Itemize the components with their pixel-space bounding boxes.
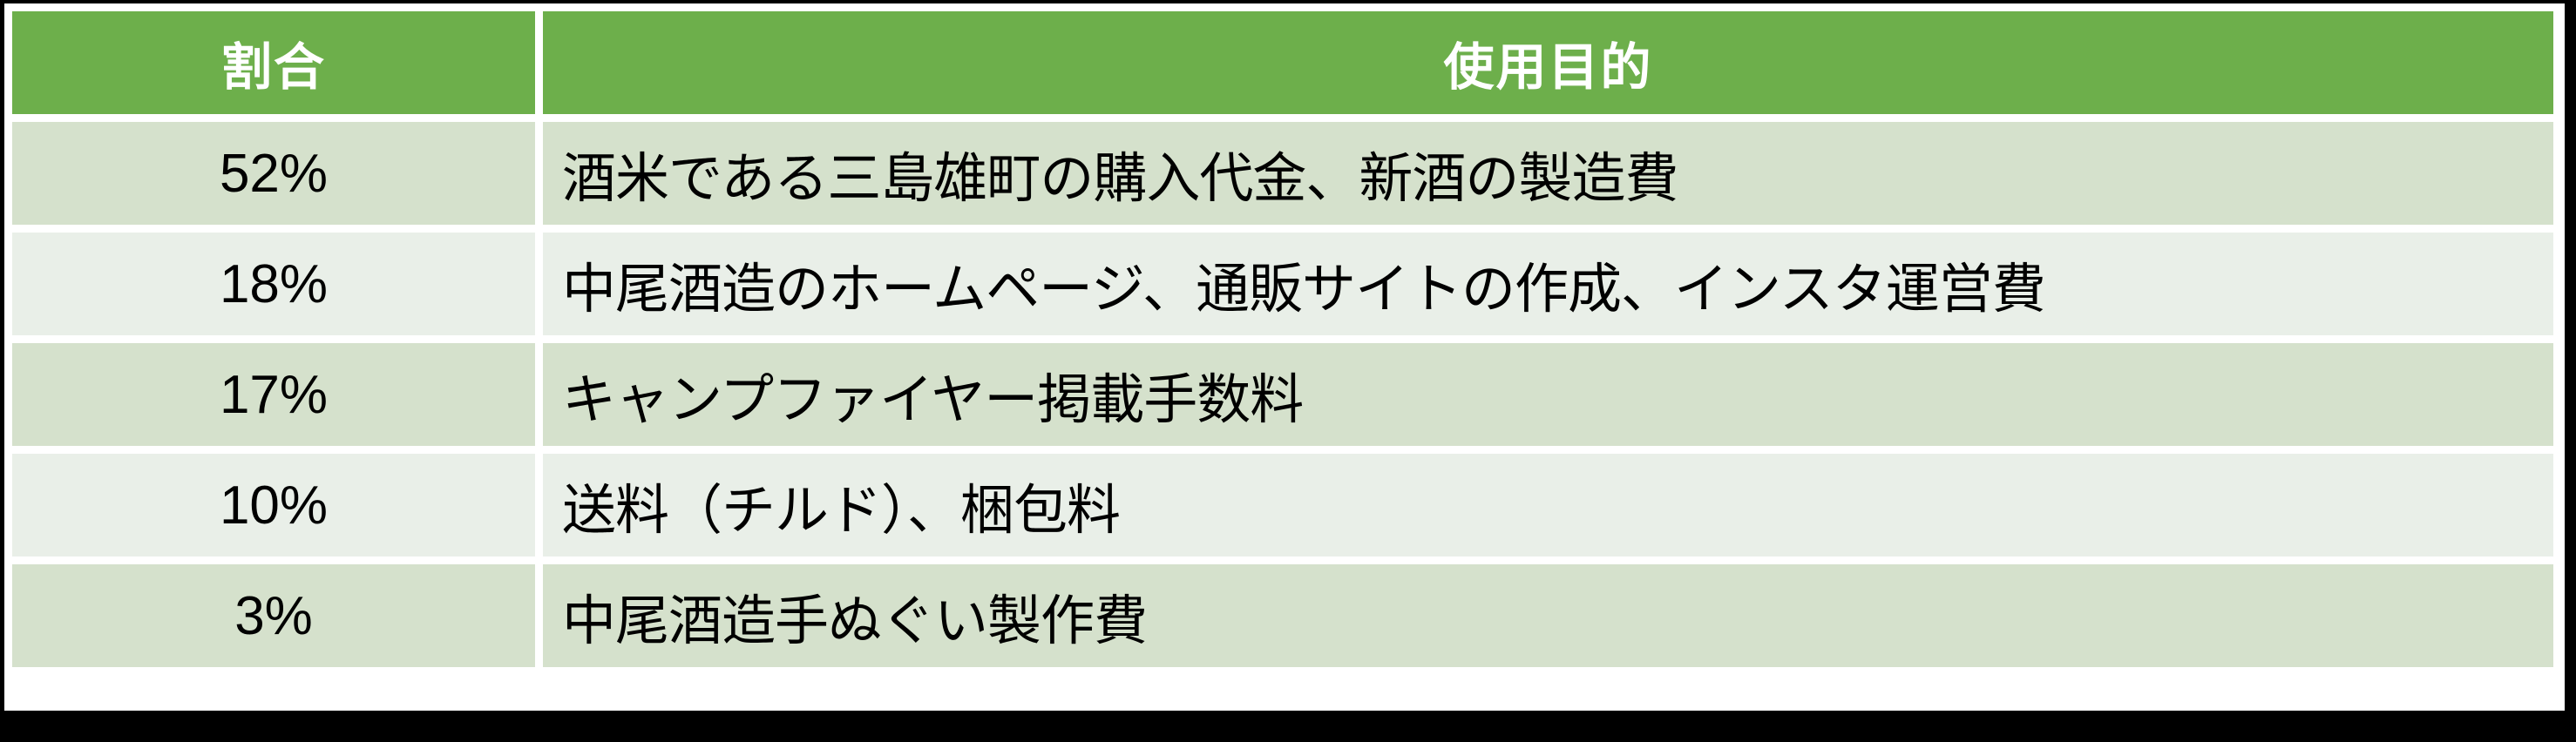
cell-rate: 18% [12,233,535,335]
cell-rate: 52% [12,122,535,225]
cell-purpose: キャンプファイヤー掲載手数料 [543,343,2553,446]
table-row: 52% 酒米である三島雄町の購入代金、新酒の製造費 [12,122,2553,225]
cell-rate: 10% [12,454,535,556]
cell-purpose: 中尾酒造手ぬぐい製作費 [543,564,2553,667]
table-body: 52% 酒米である三島雄町の購入代金、新酒の製造費 18% 中尾酒造のホームペー… [12,122,2553,667]
table-header: 割合 使用目的 [12,11,2553,114]
cell-rate: 3% [12,564,535,667]
table-header-row: 割合 使用目的 [12,11,2553,114]
table-row: 18% 中尾酒造のホームページ、通販サイトの作成、インスタ運営費 [12,233,2553,335]
slide-root: 割合 使用目的 52% 酒米である三島雄町の購入代金、新酒の製造費 18% 中尾… [0,0,2576,742]
cell-purpose: 送料（チルド）、梱包料 [543,454,2553,556]
cell-rate: 17% [12,343,535,446]
cell-purpose: 酒米である三島雄町の購入代金、新酒の製造費 [543,122,2553,225]
column-header-purpose: 使用目的 [543,11,2553,114]
table-row: 17% キャンプファイヤー掲載手数料 [12,343,2553,446]
table-row: 10% 送料（チルド）、梱包料 [12,454,2553,556]
table-row: 3% 中尾酒造手ぬぐい製作費 [12,564,2553,667]
bottom-black-bar [0,711,2576,742]
column-header-rate: 割合 [12,11,535,114]
cell-purpose: 中尾酒造のホームページ、通販サイトの作成、インスタ運営費 [543,233,2553,335]
usage-breakdown-table: 割合 使用目的 52% 酒米である三島雄町の購入代金、新酒の製造費 18% 中尾… [4,3,2561,675]
